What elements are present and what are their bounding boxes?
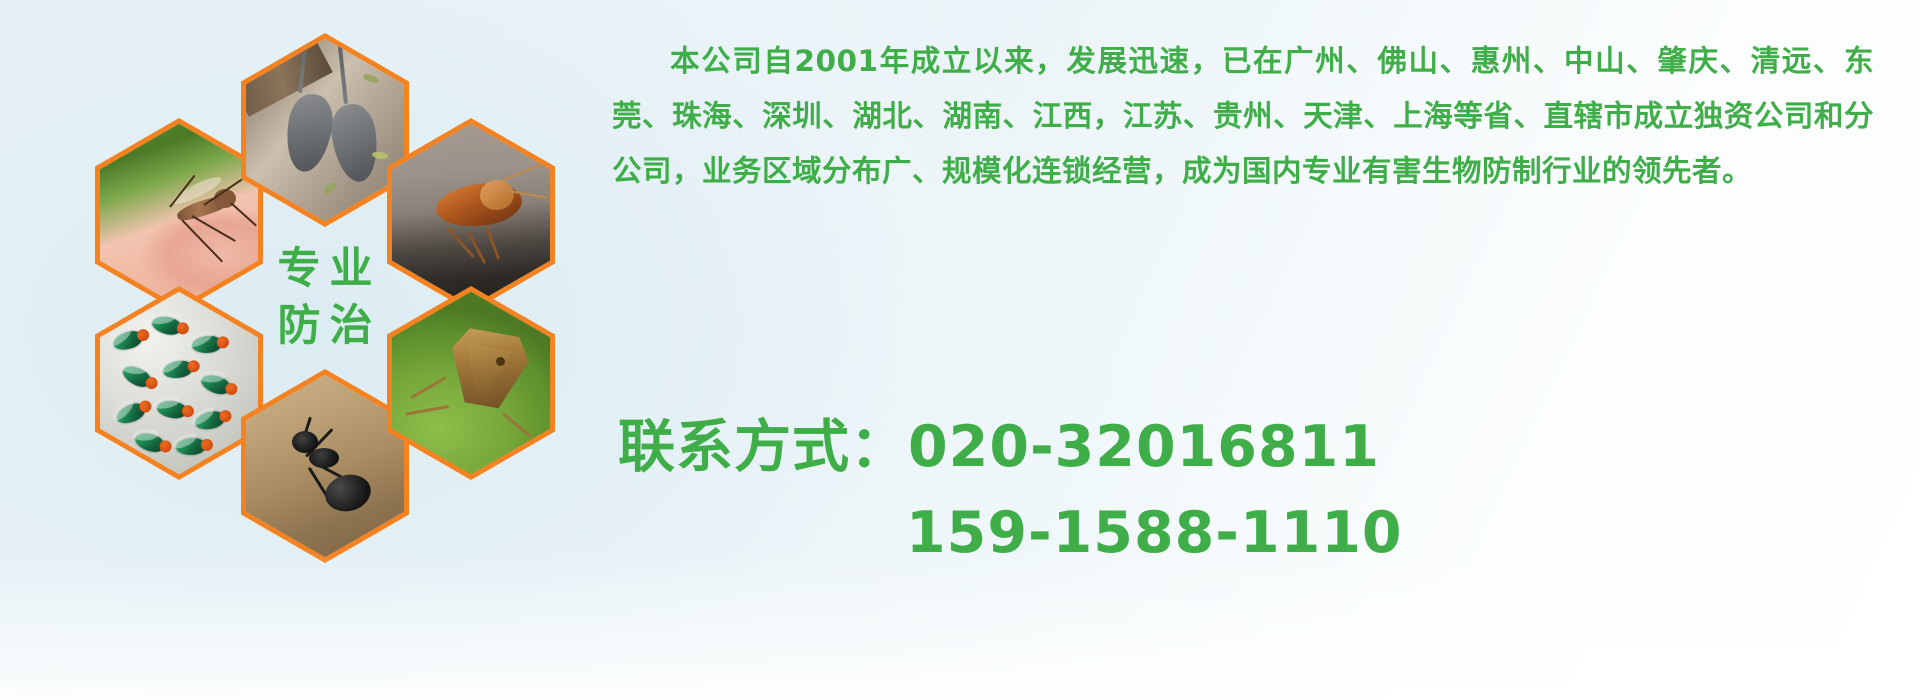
mosquito-icon xyxy=(100,124,258,307)
promo-banner: 专业 防治 本公司自2001年成立以来，发展迅速，已在广州、佛山、惠州、中山、肇… xyxy=(0,0,1920,700)
stinkbug-icon xyxy=(392,292,550,475)
honeycomb-center-label: 专业 防治 xyxy=(241,201,409,395)
hex-cell-ant xyxy=(241,369,409,563)
hex-photo-cockroach xyxy=(392,124,550,307)
hex-cell-rats xyxy=(241,33,409,227)
contact-block: 联系方式：020-32016811 159-1588-1110 xyxy=(618,404,1898,576)
hex-cell-stinkbug xyxy=(387,286,555,480)
fly-swarm-icon xyxy=(100,292,258,475)
hex-photo-flies xyxy=(100,292,258,475)
center-label-line-1: 专业 xyxy=(269,248,382,291)
hex-cell-cockroach xyxy=(387,118,555,312)
hex-cell-flies xyxy=(95,286,263,480)
contact-phone-secondary[interactable]: 159-1588-1110 xyxy=(618,490,1898,576)
hex-photo-ant xyxy=(246,375,404,558)
company-intro-paragraph: 本公司自2001年成立以来，发展迅速，已在广州、佛山、惠州、中山、肇庆、清远、东… xyxy=(612,34,1874,199)
hex-photo-mosquito xyxy=(100,124,258,307)
honeycomb-image-cluster: 专业 防治 xyxy=(95,8,595,578)
cockroach-icon xyxy=(392,124,550,307)
rodent-icon xyxy=(246,39,404,222)
contact-phone-primary[interactable]: 联系方式：020-32016811 xyxy=(618,404,1898,490)
hex-photo-stinkbug xyxy=(392,292,550,475)
hex-cell-mosquito xyxy=(95,118,263,312)
hex-photo-rats xyxy=(246,39,404,222)
center-label-line-2: 防治 xyxy=(269,305,382,348)
ant-icon xyxy=(246,375,404,558)
company-intro-block: 本公司自2001年成立以来，发展迅速，已在广州、佛山、惠州、中山、肇庆、清远、东… xyxy=(612,34,1874,199)
